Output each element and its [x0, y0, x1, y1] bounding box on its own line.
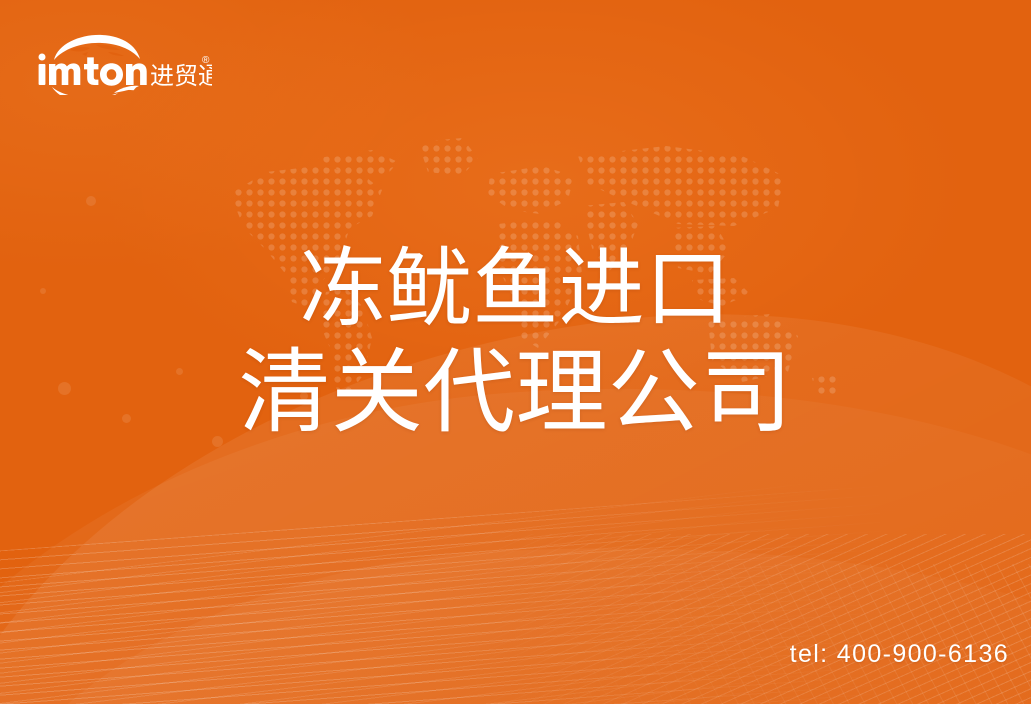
logo-chinese-wordmark: 进贸通 — [150, 63, 212, 90]
promo-banner: 进贸通 ® 冻鱿鱼进口 清关代理公司 tel: 400-900-6136 — [0, 0, 1031, 704]
globe-arc-icon — [54, 35, 140, 60]
diagonal-hatch-pattern-secondary — [521, 564, 1031, 704]
headline-line-1: 冻鱿鱼进口 — [0, 240, 1031, 340]
bokeh-speck — [86, 196, 96, 206]
page-title: 冻鱿鱼进口 清关代理公司 — [0, 240, 1031, 446]
registered-trademark-icon: ® — [202, 55, 210, 66]
imton-logo[interactable]: 进贸通 ® — [36, 33, 212, 95]
swoosh-icon — [52, 86, 139, 95]
contact-phone[interactable]: tel: 400-900-6136 — [790, 640, 1009, 669]
headline-line-2: 清关代理公司 — [0, 340, 1031, 447]
